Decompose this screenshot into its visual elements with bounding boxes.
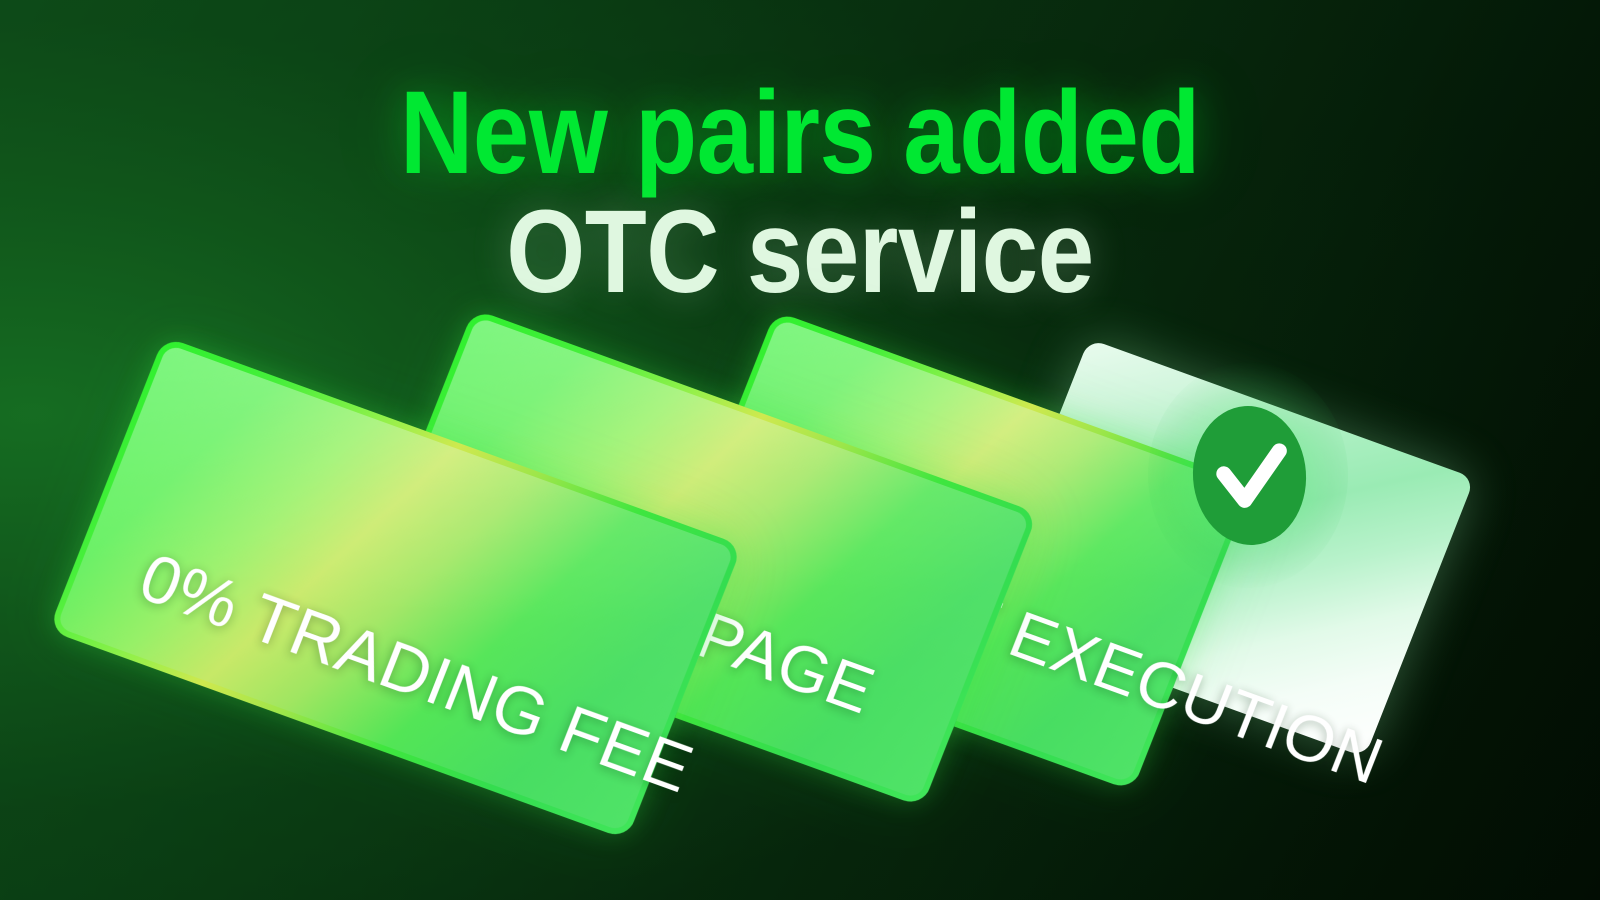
feature-card-label: 0% TRADING FEE bbox=[129, 538, 703, 808]
promo-banner: New pairs added OTC service INSTANT EXEC… bbox=[0, 0, 1600, 900]
check-badge bbox=[1188, 402, 1310, 549]
check-icon bbox=[1188, 402, 1310, 549]
feature-card-row: INSTANT EXECUTION NO SLIPPAGE 0% TRADING… bbox=[0, 0, 1600, 900]
